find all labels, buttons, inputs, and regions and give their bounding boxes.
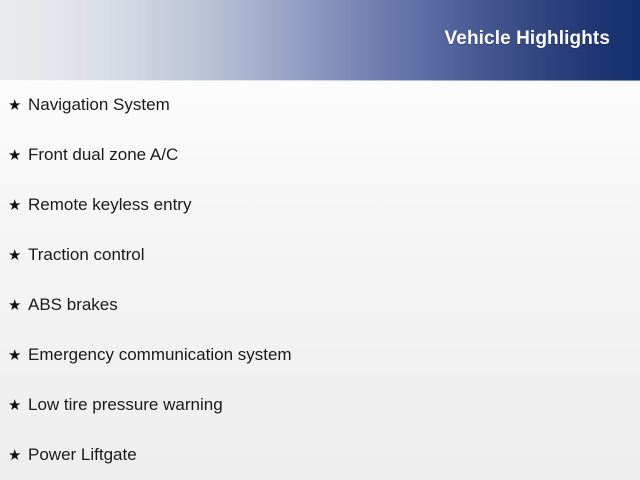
star-bullet-icon: ★ — [8, 298, 28, 313]
list-item: ★ Emergency communication system — [0, 330, 640, 380]
list-item-label: ABS brakes — [28, 295, 118, 315]
star-bullet-icon: ★ — [8, 348, 28, 363]
page-title: Vehicle Highlights — [445, 28, 610, 50]
star-bullet-icon: ★ — [8, 248, 28, 263]
list-item-label: Low tire pressure warning — [28, 395, 223, 415]
star-bullet-icon: ★ — [8, 448, 28, 463]
list-item-label: Traction control — [28, 245, 145, 265]
list-item: ★ Remote keyless entry — [0, 180, 640, 230]
list-item: ★ Traction control — [0, 230, 640, 280]
list-item-label: Front dual zone A/C — [28, 145, 178, 165]
star-bullet-icon: ★ — [8, 198, 28, 213]
star-bullet-icon: ★ — [8, 98, 28, 113]
list-item-label: Emergency communication system — [28, 345, 292, 365]
list-item: ★ Navigation System — [0, 80, 640, 130]
list-item-label: Remote keyless entry — [28, 195, 191, 215]
list-item-label: Navigation System — [28, 95, 170, 115]
header-banner: Vehicle Highlights — [0, 0, 640, 80]
star-bullet-icon: ★ — [8, 148, 28, 163]
list-item: ★ Low tire pressure warning — [0, 380, 640, 430]
vehicle-highlights-list: ★ Navigation System ★ Front dual zone A/… — [0, 80, 640, 480]
star-bullet-icon: ★ — [8, 398, 28, 413]
vehicle-highlights-slide: Vehicle Highlights ★ Navigation System ★… — [0, 0, 640, 480]
list-item: ★ Power Liftgate — [0, 430, 640, 480]
list-item: ★ Front dual zone A/C — [0, 130, 640, 180]
list-item: ★ ABS brakes — [0, 280, 640, 330]
list-item-label: Power Liftgate — [28, 445, 137, 465]
